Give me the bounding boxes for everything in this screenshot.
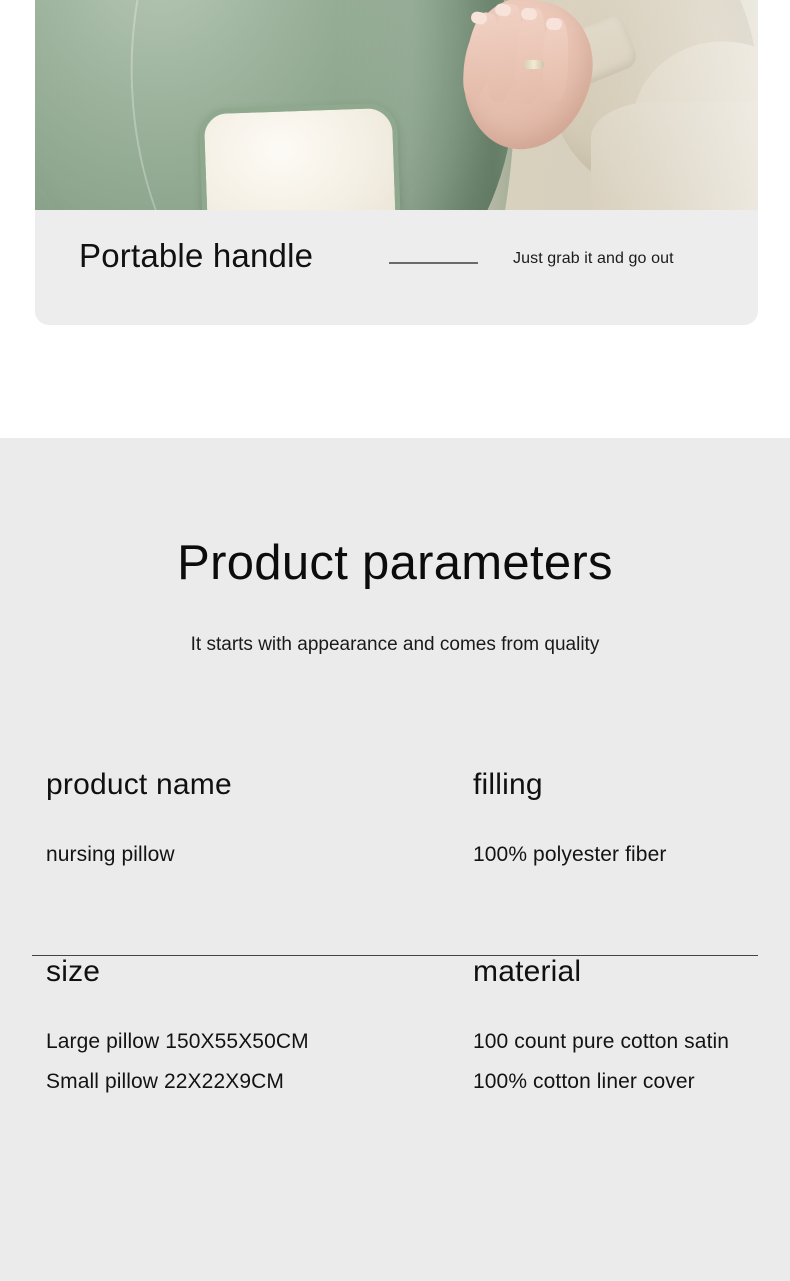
parameters-row-divider (32, 955, 758, 956)
finger-ring (524, 60, 544, 69)
parameter-value: 100% polyester fiber (473, 835, 773, 875)
parameters-heading: Product parameters (0, 535, 790, 591)
fingernail (546, 18, 562, 31)
parameter-cell-material: material 100 count pure cotton satin 100… (473, 955, 773, 1102)
parameter-value: Large pillow 150X55X50CM (46, 1022, 446, 1062)
parameter-cell-size: size Large pillow 150X55X50CM Small pill… (46, 955, 446, 1102)
portable-handle-patch (199, 103, 402, 210)
parameter-cell-product-name: product name nursing pillow (46, 768, 446, 875)
parameter-value: 100 count pure cotton satin (473, 1022, 773, 1062)
fingernail (521, 7, 538, 20)
parameter-label: material (473, 955, 773, 988)
product-parameters-section: Product parameters It starts with appear… (0, 438, 790, 1281)
parameter-label: product name (46, 768, 446, 801)
parameter-row: size Large pillow 150X55X50CM Small pill… (0, 955, 790, 1142)
parameter-label: filling (473, 768, 773, 801)
caption-row: Portable handle Just grab it and go out (35, 210, 758, 325)
parameter-value: Small pillow 22X22X9CM (46, 1062, 446, 1102)
caption-divider (389, 262, 478, 264)
parameter-value: 100% cotton liner cover (473, 1062, 773, 1102)
parameter-values: 100 count pure cotton satin 100% cotton … (473, 1022, 773, 1102)
parameter-values: 100% polyester fiber (473, 835, 773, 875)
hero-section: Portable handle Just grab it and go out (0, 0, 790, 438)
feature-subtitle: Just grab it and go out (513, 250, 674, 268)
parameter-row: product name nursing pillow filling 100%… (0, 768, 790, 955)
parameter-label: size (46, 955, 446, 988)
parameters-subheading: It starts with appearance and comes from… (0, 634, 790, 656)
feature-title: Portable handle (79, 236, 313, 276)
product-photo (35, 0, 758, 210)
portable-handle-card: Portable handle Just grab it and go out (35, 0, 758, 325)
parameter-cell-filling: filling 100% polyester fiber (473, 768, 773, 875)
hero-caption-bar: Portable handle Just grab it and go out (35, 210, 758, 325)
parameter-values: nursing pillow (46, 835, 446, 875)
photo-right-glow (588, 0, 758, 210)
parameter-value: nursing pillow (46, 835, 446, 875)
parameter-values: Large pillow 150X55X50CM Small pillow 22… (46, 1022, 446, 1102)
